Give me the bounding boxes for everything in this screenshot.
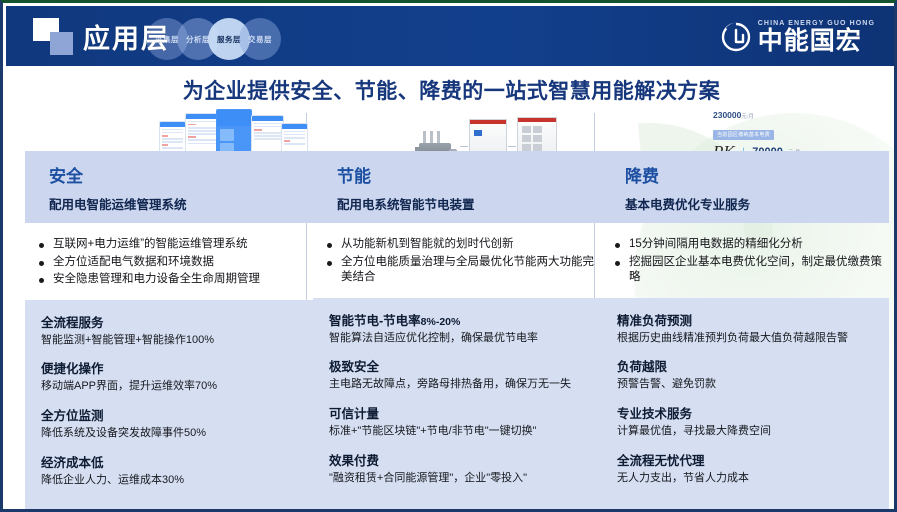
feature-heading: 全流程无忧代理 (617, 450, 875, 469)
feature-heading: 效果付费 (329, 450, 587, 469)
safety-bullet-list: 互联网+电力运维”的智能运维管理系统 全方位适配电气数据和环境数据 安全隐患管理… (25, 223, 313, 300)
venn-circle-trading[interactable]: 交易层 (239, 18, 281, 60)
list-item: 全方位适配电气数据和环境数据 (39, 255, 307, 271)
bullet-dot-icon (39, 278, 44, 283)
feature-body: 主电路无故障点，旁路母排热备用，确保万无一失 (329, 377, 587, 392)
top-header-bar: 采集层 分析层 服务层 交易层 应用层 CHINA ENERGY GUO HON… (6, 6, 897, 66)
list-item: 安全隐患管理和电力设备全生命周期管理 (39, 272, 307, 288)
list-item: 15分钟间隔用电数据的精细化分析 (615, 237, 883, 253)
bullet-dot-icon (327, 261, 332, 266)
feature-body: 预警告警、避免罚款 (617, 377, 875, 392)
pk-top-value: 230000 (713, 110, 741, 120)
energy-saving-feature-panel: 智能节电-节电率8%-20% 智能算法自适应优化控制，确保最优节电率 极致安全 … (313, 298, 601, 510)
feature-item: 全方位监测 降低系统及设备突发故障事件50% (41, 405, 299, 441)
connector-dash (508, 146, 516, 147)
bullet-text: 15分钟间隔用电数据的精细化分析 (629, 237, 803, 253)
feature-body: "融资租赁+合同能源管理"，企业"零投入" (329, 471, 587, 486)
fee-reduction-illustration: 230000元/月 当前园区缴纳基本电费 PK ↓ 70000元/月 16000… (601, 107, 889, 151)
list-item: 挖掘园区企业基本电费优化空间，制定最优缴费策略 (615, 255, 883, 286)
energy-saving-bullet-list: 从功能新机到智能就的划时代创新 全方位电能质量治理与全局最优化节能两大功能完美结… (313, 223, 601, 298)
fee-reduction-header-band: 降费 基本电费优化专业服务 (601, 151, 889, 223)
venn-label-analysis: 分析层 (186, 34, 210, 45)
company-logo: CHINA ENERGY GUO HONG 中能国宏 (721, 17, 875, 57)
energy-saving-header-band: 节能 配用电系统智能节电装置 (313, 151, 601, 223)
feature-heading-text: 智能节电-节电率 (329, 314, 421, 328)
columns-container: 安全 配用电智能运维管理系统 互联网+电力运维”的智能运维管理系统 全方位适配电… (3, 107, 897, 507)
feature-item: 可信计量 标准+"节能区块链"+节电/非节电"一键切换" (329, 403, 587, 439)
feature-body: 智能监测+智能管理+智能操作100% (41, 333, 299, 348)
feature-heading: 极致安全 (329, 356, 587, 375)
feature-body: 智能算法自适应优化控制，确保最优节电率 (329, 331, 587, 346)
bullet-dot-icon (327, 243, 332, 248)
feature-heading-rate: 8%-20% (421, 316, 461, 328)
feature-body: 计算最优值，寻找最大降费空间 (617, 424, 875, 439)
feature-body: 无人力支出，节省人力成本 (617, 471, 875, 486)
bullet-dot-icon (615, 261, 620, 266)
circle-g-logo-icon (721, 22, 751, 52)
fee-reduction-title: 降费 (625, 162, 889, 187)
energy-saving-illustration (313, 107, 601, 151)
feature-heading: 专业技术服务 (617, 403, 875, 422)
energy-saving-title: 节能 (337, 162, 601, 187)
pk-top-unit: 元/月 (741, 114, 754, 120)
connector-dash (460, 146, 468, 147)
column-energy-saving: 节能 配用电系统智能节电装置 从功能新机到智能就的划时代创新 全方位电能质量治理… (313, 107, 601, 510)
feature-heading: 便捷化操作 (41, 358, 299, 377)
bullet-text: 安全隐患管理和电力设备全生命周期管理 (53, 272, 260, 288)
bullet-text: 从功能新机到智能就的划时代创新 (341, 237, 514, 253)
brand-english-name: CHINA ENERGY GUO HONG (758, 20, 875, 27)
feature-heading: 负荷越限 (617, 356, 875, 375)
venn-label-service: 服务层 (217, 34, 241, 45)
safety-illustration (25, 107, 313, 151)
bullet-text: 挖掘园区企业基本电费优化空间，制定最优缴费策略 (629, 255, 883, 286)
squares-logo-icon (33, 18, 77, 56)
feature-item: 便捷化操作 移动端APP界面，提升运维效率70% (41, 358, 299, 394)
pk-top-value-row: 230000元/月 (713, 105, 873, 123)
energy-saving-subtitle: 配用电系统智能节电装置 (337, 194, 601, 213)
feature-item: 效果付费 "融资租赁+合同能源管理"，企业"零投入" (329, 450, 587, 486)
brand-chinese-name: 中能国宏 (758, 29, 875, 54)
bullet-text: 全方位适配电气数据和环境数据 (53, 255, 214, 271)
bullet-dot-icon (39, 261, 44, 266)
slide-root: 采集层 分析层 服务层 交易层 应用层 CHINA ENERGY GUO HON… (0, 0, 897, 512)
list-item: 全方位电能质量治理与全局最优化节能两大功能完美结合 (327, 255, 595, 286)
pk-top-badge: 当前园区缴纳基本电费 (713, 130, 774, 140)
feature-heading: 经济成本低 (41, 452, 299, 471)
fee-reduction-subtitle: 基本电费优化专业服务 (625, 194, 889, 213)
bullet-dot-icon (615, 243, 620, 248)
bullet-text: 互联网+电力运维”的智能运维管理系统 (53, 237, 248, 253)
column-fee-reduction: 230000元/月 当前园区缴纳基本电费 PK ↓ 70000元/月 16000… (601, 107, 889, 510)
feature-item: 全流程无忧代理 无人力支出，节省人力成本 (617, 450, 875, 486)
fee-reduction-feature-panel: 精准负荷预测 根据历史曲线精准预判负荷最大值负荷越限告警 负荷越限 预警告警、避… (601, 298, 889, 510)
venn-label-trading: 交易层 (248, 34, 272, 45)
safety-subtitle: 配用电智能运维管理系统 (49, 194, 313, 213)
feature-item: 智能节电-节电率8%-20% 智能算法自适应优化控制，确保最优节电率 (329, 310, 587, 346)
feature-item: 专业技术服务 计算最优值，寻找最大降费空间 (617, 403, 875, 439)
layer-venn-diagram: 采集层 分析层 服务层 交易层 (146, 18, 326, 60)
list-item: 从功能新机到智能就的划时代创新 (327, 237, 595, 253)
safety-header-band: 安全 配用电智能运维管理系统 (25, 151, 313, 223)
list-item: 互联网+电力运维”的智能运维管理系统 (39, 237, 307, 253)
fee-reduction-bullet-list: 15分钟间隔用电数据的精细化分析 挖掘园区企业基本电费优化空间，制定最优缴费策略 (601, 223, 889, 298)
feature-heading: 全流程服务 (41, 312, 299, 331)
feature-item: 负荷越限 预警告警、避免罚款 (617, 356, 875, 392)
feature-heading: 精准负荷预测 (617, 310, 875, 329)
column-safety: 安全 配用电智能运维管理系统 互联网+电力运维”的智能运维管理系统 全方位适配电… (25, 107, 313, 512)
feature-item: 全流程服务 智能监测+智能管理+智能操作100% (41, 312, 299, 348)
feature-heading: 智能节电-节电率8%-20% (329, 310, 587, 329)
feature-body: 标准+"节能区块链"+节电/非节电"一键切换" (329, 424, 587, 439)
feature-item: 精准负荷预测 根据历史曲线精准预判负荷最大值负荷越限告警 (617, 310, 875, 346)
feature-item: 经济成本低 降低企业人力、运维成本30% (41, 452, 299, 488)
feature-body: 降低系统及设备突发故障事件50% (41, 426, 299, 441)
feature-heading: 全方位监测 (41, 405, 299, 424)
feature-body: 移动端APP界面，提升运维效率70% (41, 379, 299, 394)
feature-heading: 可信计量 (329, 403, 587, 422)
page-title: 为企业提供安全、节能、降费的一站式智慧用能解决方案 (3, 75, 897, 105)
feature-body: 根据历史曲线精准预判负荷最大值负荷越限告警 (617, 331, 875, 346)
feature-item: 极致安全 主电路无故障点，旁路母排热备用，确保万无一失 (329, 356, 587, 392)
safety-title: 安全 (49, 162, 313, 187)
bullet-dot-icon (39, 243, 44, 248)
safety-feature-panel: 全流程服务 智能监测+智能管理+智能操作100% 便捷化操作 移动端APP界面，… (25, 300, 313, 512)
feature-body: 降低企业人力、运维成本30% (41, 473, 299, 488)
bullet-text: 全方位电能质量治理与全局最优化节能两大功能完美结合 (341, 255, 595, 286)
application-layer-title: 应用层 (83, 17, 170, 56)
